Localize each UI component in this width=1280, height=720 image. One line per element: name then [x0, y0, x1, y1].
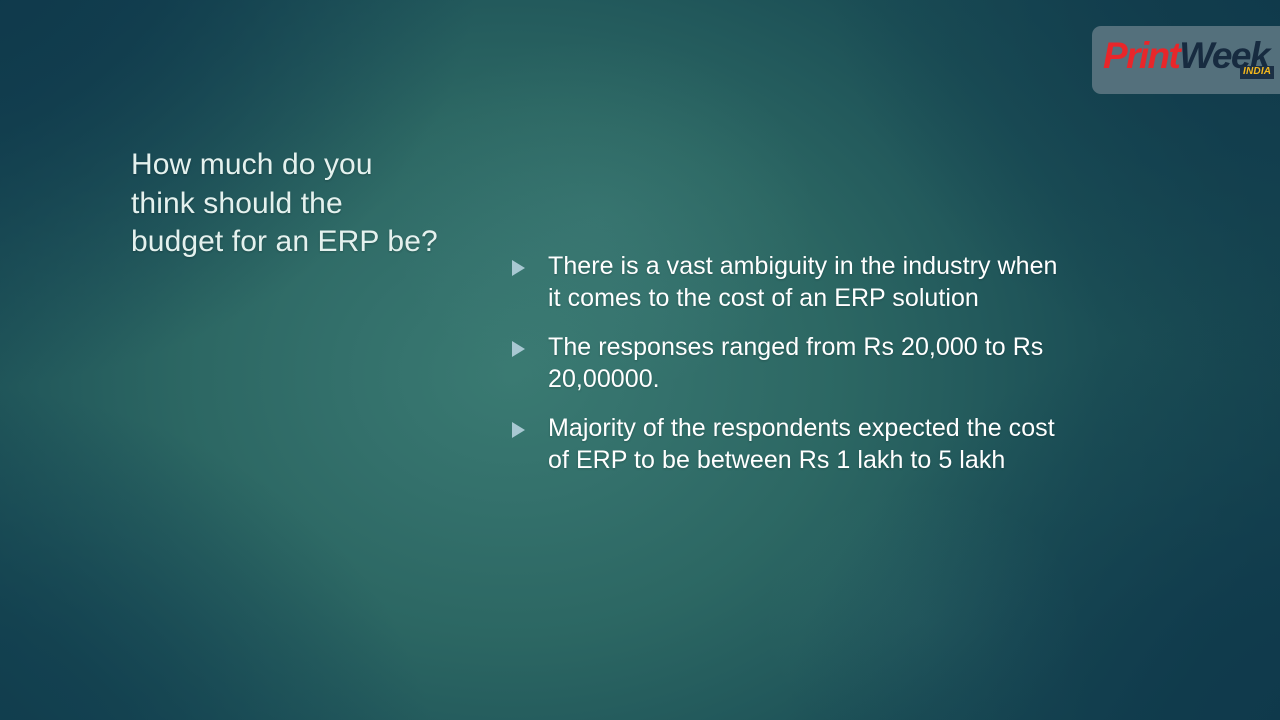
triangle-right-icon [512, 341, 525, 357]
printweek-logo-badge: PrintWeek INDIA [1092, 26, 1280, 94]
list-item-text: The responses ranged from Rs 20,000 to R… [548, 331, 1068, 395]
list-item: There is a vast ambiguity in the industr… [508, 250, 1068, 314]
triangle-right-icon [512, 260, 525, 276]
presentation-slide: PrintWeek INDIA How much do you think sh… [0, 0, 1280, 720]
triangle-right-icon [512, 422, 525, 438]
list-item-text: There is a vast ambiguity in the industr… [548, 250, 1068, 314]
slide-bullet-list: There is a vast ambiguity in the industr… [508, 250, 1068, 476]
list-item: The responses ranged from Rs 20,000 to R… [508, 331, 1068, 395]
list-item: Majority of the respondents expected the… [508, 412, 1068, 476]
page-title: How much do you think should the budget … [131, 146, 441, 262]
logo-text-print: Print [1103, 35, 1179, 76]
logo-text-india: INDIA [1240, 66, 1274, 79]
slide-title-block: How much do you think should the budget … [131, 146, 441, 262]
list-item-text: Majority of the respondents expected the… [548, 412, 1068, 476]
